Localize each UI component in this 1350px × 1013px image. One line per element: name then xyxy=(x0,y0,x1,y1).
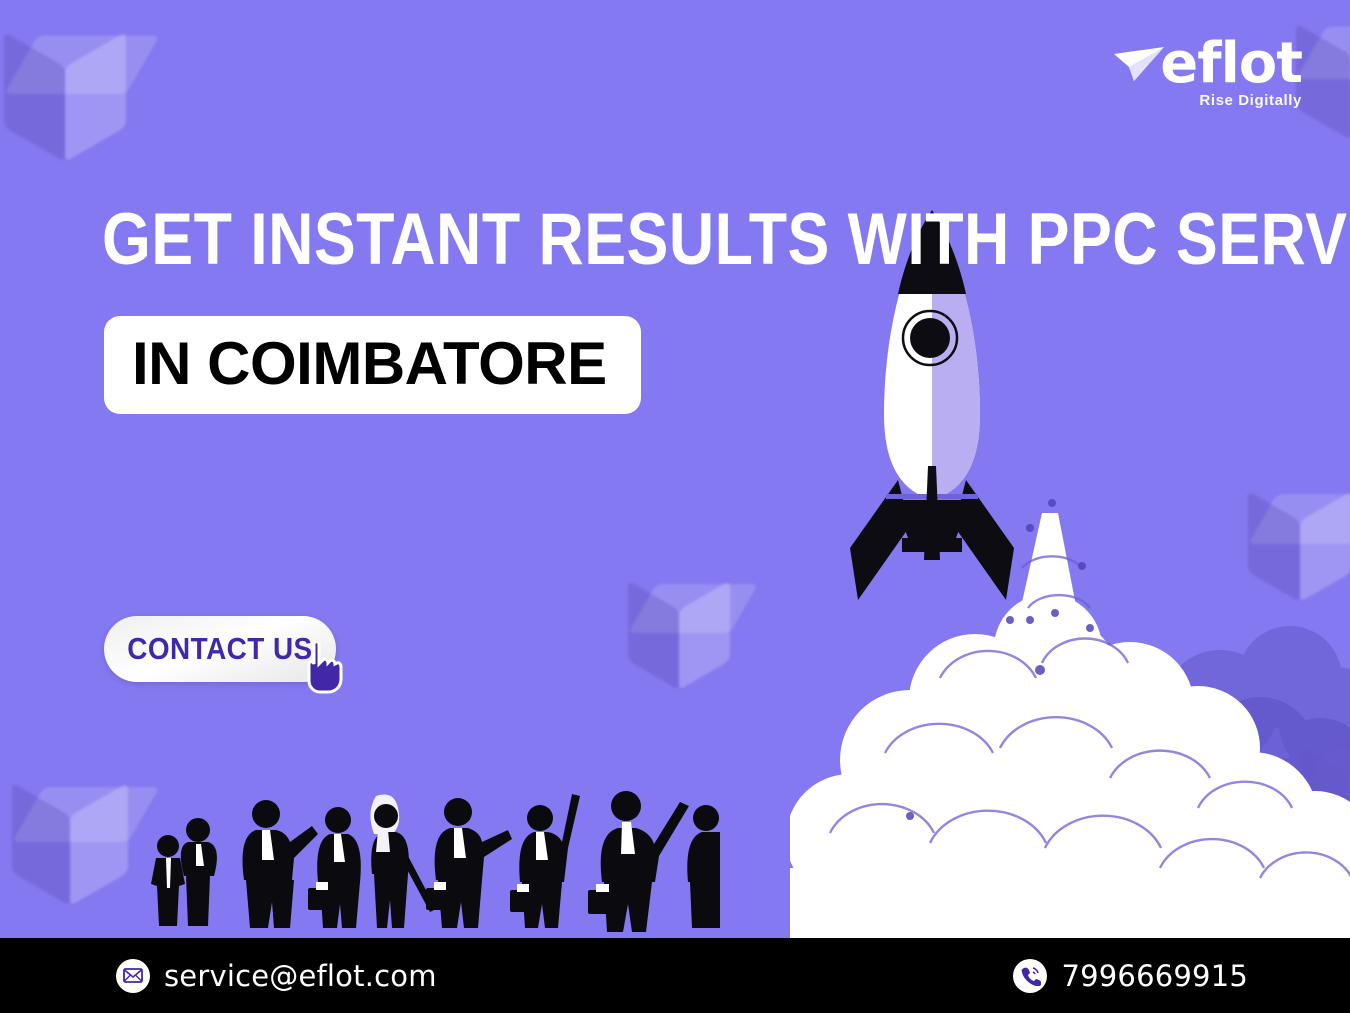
footer-email[interactable]: service@eflot.com xyxy=(116,959,437,993)
banner-canvas: eflot Rise Digitally GET INSTANT RESULTS… xyxy=(0,0,1350,1013)
contact-us-label: CONTACT US xyxy=(127,631,312,667)
business-people-silhouettes xyxy=(140,768,720,938)
silhouette-6 xyxy=(426,798,512,928)
brand-logo[interactable]: eflot Rise Digitally xyxy=(1112,38,1302,109)
silhouette-7 xyxy=(510,794,580,928)
pointing-hand-cursor-icon xyxy=(300,640,344,696)
subheadline-highlight: IN COIMBATORE xyxy=(104,316,641,414)
subheadline-text: IN COIMBATORE xyxy=(132,334,607,394)
footer-contact-bar: service@eflot.com 7996669915 xyxy=(0,938,1350,1013)
footer-email-text: service@eflot.com xyxy=(164,959,437,993)
rocket-porthole-glass xyxy=(910,318,950,358)
decor-cube-top-right xyxy=(1296,18,1350,140)
phone-ringing-icon xyxy=(1013,959,1047,993)
rocket-illustration xyxy=(790,208,1350,938)
silhouette-8 xyxy=(588,791,689,932)
silhouette-9 xyxy=(687,805,720,928)
page-title: GET INSTANT RESULTS WITH PPC SERVICES xyxy=(102,203,1350,276)
brand-name: eflot xyxy=(1160,38,1302,90)
paper-plane-icon xyxy=(1112,43,1166,85)
decor-cube-top-left xyxy=(4,26,126,162)
footer-phone-text: 7996669915 xyxy=(1061,959,1248,993)
silhouette-4 xyxy=(308,807,361,928)
decor-cube-center xyxy=(628,576,730,690)
footer-phone[interactable]: 7996669915 xyxy=(1013,959,1248,993)
silhouette-3 xyxy=(243,800,319,928)
silhouette-1 xyxy=(151,835,185,926)
brand-tagline: Rise Digitally xyxy=(1112,92,1302,109)
envelope-icon xyxy=(116,959,150,993)
decor-cube-bottom-left xyxy=(12,778,128,906)
silhouette-2 xyxy=(181,818,217,926)
